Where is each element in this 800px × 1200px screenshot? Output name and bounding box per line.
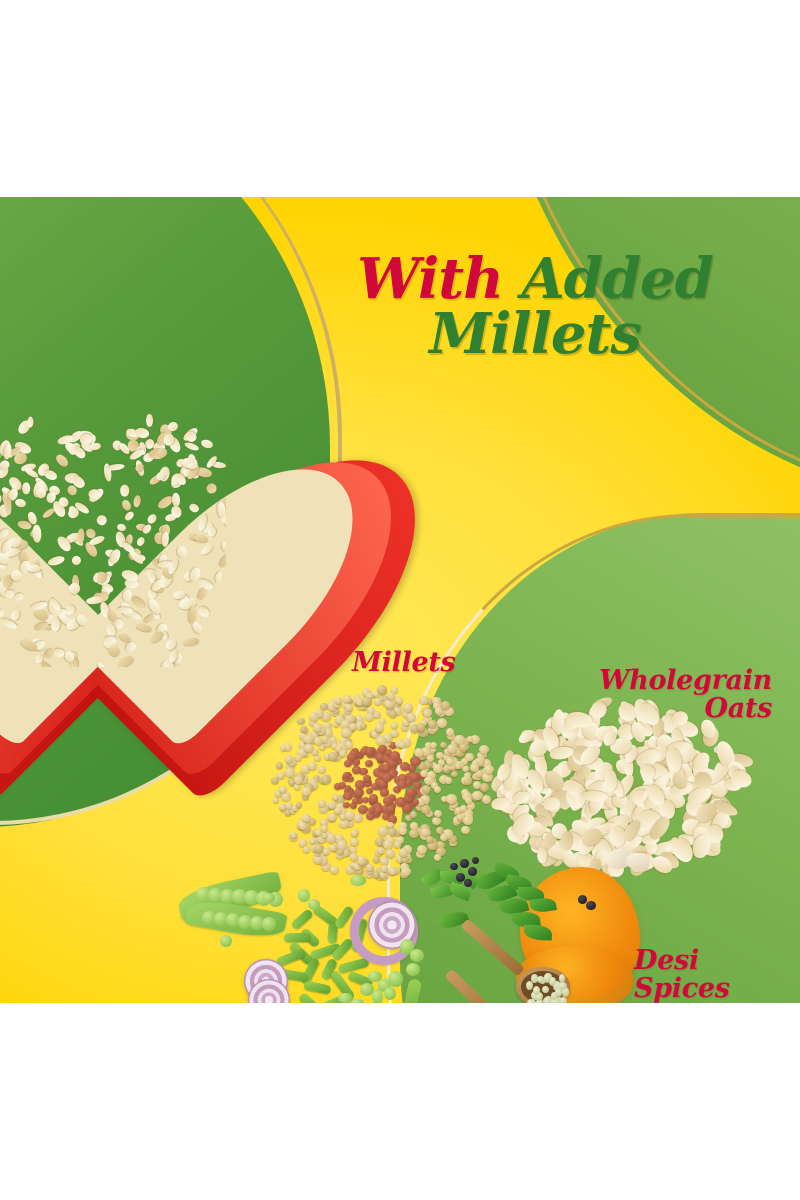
garlic-clove <box>624 851 651 874</box>
pea-item <box>350 875 366 886</box>
label-wholegrain-oats: Wholegrain Oats <box>560 667 772 723</box>
heart-bowl-image <box>0 293 258 723</box>
peppercorn <box>460 859 469 868</box>
spoon-handle <box>444 969 509 1003</box>
pea-item <box>298 889 310 902</box>
pea-item <box>388 971 403 987</box>
bean-item <box>284 933 312 942</box>
bean-item <box>298 992 323 1003</box>
pea-item <box>406 963 420 976</box>
label-desi-spices: Desi Spices <box>634 947 730 1003</box>
peppercorn <box>464 879 472 887</box>
pea-item <box>350 999 365 1003</box>
pea-item <box>372 989 383 1003</box>
product-feature-panel: With Added Millets Millets Wholegrain Oa… <box>0 0 800 1200</box>
desi-spices-image <box>420 849 652 1003</box>
oats-in-bowl <box>0 340 226 667</box>
bean-item <box>303 980 331 994</box>
peppercorn <box>468 867 477 876</box>
peppercorn <box>450 863 458 870</box>
yellow-background-panel: With Added Millets Millets Wholegrain Oa… <box>0 197 800 1003</box>
peppercorn <box>472 857 479 864</box>
pea-item <box>384 987 396 1000</box>
vegetables-image <box>172 875 440 1003</box>
pea-item <box>262 917 276 931</box>
headline-millets: Millets <box>325 307 745 362</box>
label-millets: Millets <box>352 649 455 677</box>
wooden-spoon-peppercorn <box>448 961 598 1003</box>
headline: With Added Millets <box>325 252 745 362</box>
peppercorn <box>578 895 587 904</box>
peppercorn <box>586 901 596 910</box>
pea-item <box>220 935 232 947</box>
pea-item <box>308 899 320 910</box>
bean-item <box>290 908 314 930</box>
